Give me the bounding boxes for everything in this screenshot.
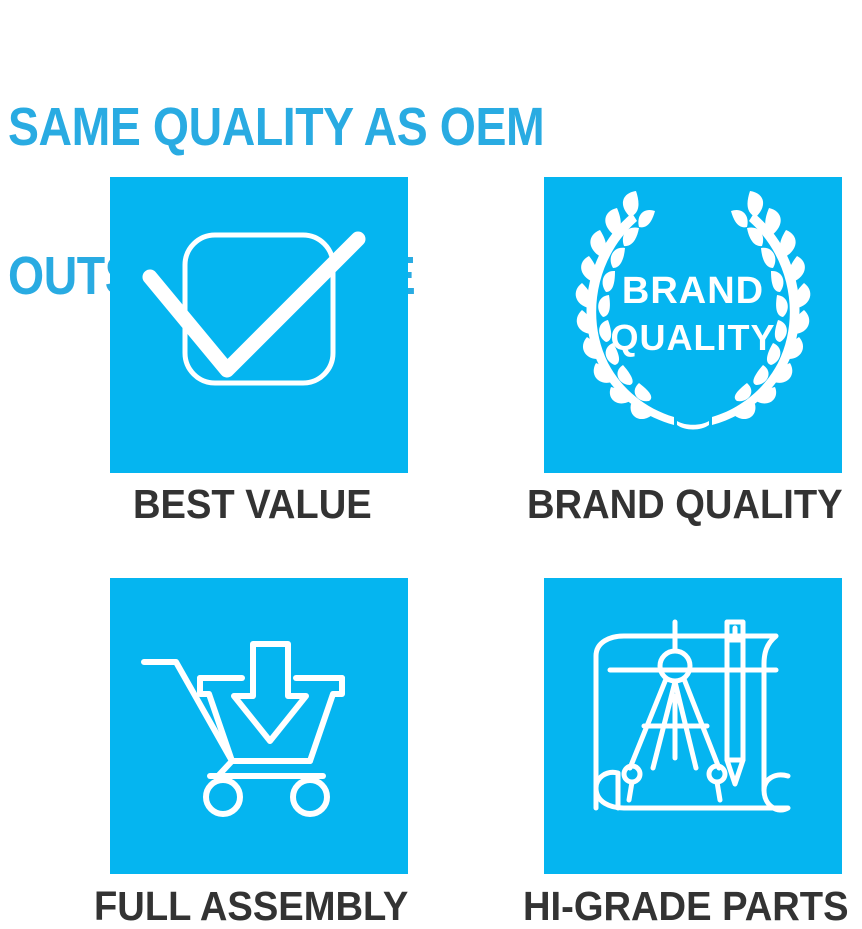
laurel-wreath-icon (544, 177, 842, 473)
feature-tile-best-value (110, 177, 408, 473)
blueprint-compass-pencil-icon (544, 578, 842, 874)
promo-infographic: SAME QUALITY AS OEM OUTSIDE + INSIDE BES… (0, 0, 862, 929)
checkbox-check-icon (110, 177, 408, 473)
feature-caption-hi-grade-parts: HI-GRADE PARTS (523, 886, 849, 927)
feature-tile-brand-quality: BRAND QUALITY (544, 177, 842, 473)
feature-tile-full-assembly (110, 578, 408, 874)
shopping-cart-download-icon (110, 578, 408, 874)
feature-caption-full-assembly: FULL ASSEMBLY (94, 886, 408, 927)
feature-caption-brand-quality: BRAND QUALITY (527, 484, 843, 525)
feature-tile-hi-grade-parts (544, 578, 842, 874)
feature-caption-best-value: BEST VALUE (133, 484, 372, 525)
headline-line-1: SAME QUALITY AS OEM (8, 103, 739, 153)
